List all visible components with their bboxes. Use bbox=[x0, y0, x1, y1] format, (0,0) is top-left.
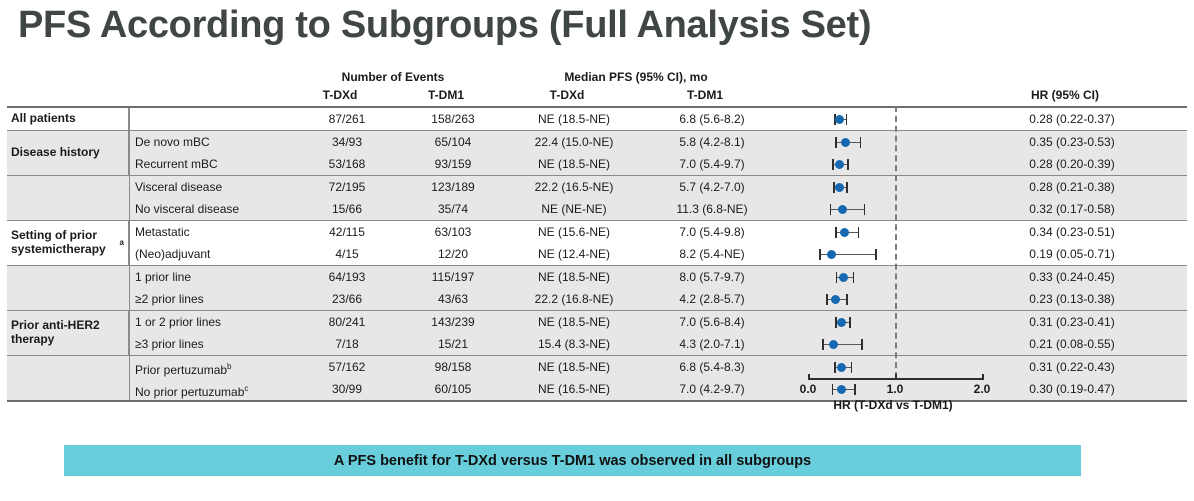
table-band: All patients87/261158/263NE (18.5-NE)6.8… bbox=[7, 108, 1187, 131]
axis-tick-label: 2.0 bbox=[962, 382, 1002, 396]
confidence-interval-line bbox=[830, 209, 866, 210]
cell-events-tdxd: 57/162 bbox=[297, 356, 397, 378]
table-row: 1 or 2 prior lines80/241143/239NE (18.5-… bbox=[7, 311, 1187, 333]
hazard-ratio-point bbox=[835, 115, 844, 124]
forest-marker bbox=[785, 311, 955, 333]
row-label-text: No visceral disease bbox=[135, 202, 239, 216]
row-label-text: Visceral disease bbox=[135, 180, 222, 194]
cell-events-tdxd: 34/93 bbox=[297, 131, 397, 153]
table-row: 1 prior line64/193115/197NE (18.5-NE)8.0… bbox=[7, 266, 1187, 288]
cell-hr: 0.28 (0.20-0.39) bbox=[957, 153, 1187, 175]
ci-cap-upper bbox=[849, 317, 851, 328]
table-row: Prior pertuzumabb57/16298/158NE (18.5-NE… bbox=[7, 356, 1187, 378]
table-row: Recurrent mBC53/16893/159NE (18.5-NE)7.0… bbox=[7, 153, 1187, 175]
cell-median-tdm1: 6.8 (5.4-8.3) bbox=[647, 356, 777, 378]
row-label: No visceral disease bbox=[135, 198, 239, 220]
cell-hr: 0.28 (0.21-0.38) bbox=[957, 176, 1187, 198]
page-title: PFS According to Subgroups (Full Analysi… bbox=[18, 0, 1118, 52]
cell-median-tdxd: 22.4 (15.0-NE) bbox=[509, 131, 639, 153]
row-label: 1 prior line bbox=[135, 266, 191, 288]
ci-cap-upper bbox=[853, 272, 855, 283]
row-label: 1 or 2 prior lines bbox=[135, 311, 221, 333]
header-events-tdm1: T-DM1 bbox=[396, 88, 496, 102]
table-row: All patients87/261158/263NE (18.5-NE)6.8… bbox=[7, 108, 1187, 130]
cell-median-tdm1: 7.0 (5.4-9.8) bbox=[647, 221, 777, 243]
cell-events-tdm1: 115/197 bbox=[403, 266, 503, 288]
row-label: No prior pertuzumabc bbox=[135, 378, 248, 400]
axis-tick bbox=[982, 374, 984, 380]
cell-events-tdm1: 98/158 bbox=[403, 356, 503, 378]
ci-cap-lower bbox=[836, 272, 838, 283]
forest-marker bbox=[785, 153, 955, 175]
cell-median-tdxd: NE (18.5-NE) bbox=[509, 356, 639, 378]
header-events-tdxd: T-DXd bbox=[290, 88, 390, 102]
cell-median-tdxd: 15.4 (8.3-NE) bbox=[509, 333, 639, 355]
table-band: Disease historyDe novo mBC34/9365/10422.… bbox=[7, 131, 1187, 176]
row-label: De novo mBC bbox=[135, 131, 210, 153]
cell-hr: 0.21 (0.08-0.55) bbox=[957, 333, 1187, 355]
footnote-marker: c bbox=[244, 384, 248, 393]
cell-median-tdxd: 22.2 (16.8-NE) bbox=[509, 288, 639, 310]
forest-marker bbox=[785, 131, 955, 153]
ci-cap-lower bbox=[830, 204, 832, 215]
cell-hr: 0.34 (0.23-0.51) bbox=[957, 221, 1187, 243]
cell-events-tdxd: 4/15 bbox=[297, 243, 397, 265]
ci-cap-upper bbox=[864, 204, 866, 215]
cell-median-tdm1: 11.3 (6.8-NE) bbox=[647, 198, 777, 220]
cell-events-tdxd: 53/168 bbox=[297, 153, 397, 175]
forest-marker bbox=[785, 243, 955, 265]
cell-median-tdxd: NE (15.6-NE) bbox=[509, 221, 639, 243]
cell-median-tdxd: NE (18.5-NE) bbox=[509, 311, 639, 333]
ci-cap-lower bbox=[822, 339, 824, 350]
table-band: 1 prior line64/193115/197NE (18.5-NE)8.0… bbox=[7, 266, 1187, 311]
cell-events-tdxd: 80/241 bbox=[297, 311, 397, 333]
axis-title: HR (T-DXd vs T-DM1) bbox=[778, 398, 1008, 412]
table-row: Metastatic42/11563/103NE (15.6-NE)7.0 (5… bbox=[7, 221, 1187, 243]
row-label: Recurrent mBC bbox=[135, 153, 218, 175]
cell-hr: 0.31 (0.23-0.41) bbox=[957, 311, 1187, 333]
footnote-marker: b bbox=[227, 362, 231, 371]
ci-cap-lower bbox=[832, 159, 834, 170]
cell-median-tdm1: 8.2 (5.4-NE) bbox=[647, 243, 777, 265]
cell-events-tdm1: 60/105 bbox=[403, 378, 503, 400]
forest-marker bbox=[785, 108, 955, 130]
cell-median-tdxd: NE (16.5-NE) bbox=[509, 378, 639, 400]
row-label-text: Prior pertuzumab bbox=[135, 363, 227, 377]
ci-cap-upper bbox=[846, 294, 848, 305]
axis-tick bbox=[808, 374, 810, 380]
row-label-text: All patients bbox=[11, 112, 76, 126]
header-median-tdxd: T-DXd bbox=[502, 88, 632, 102]
row-label: ≥2 prior lines bbox=[135, 288, 204, 310]
cell-median-tdm1: 8.0 (5.7-9.7) bbox=[647, 266, 777, 288]
row-label-all-patients: All patients bbox=[11, 108, 129, 130]
x-axis: 0.01.02.0 HR (T-DXd vs T-DM1) bbox=[778, 378, 1008, 418]
row-label: Prior pertuzumabb bbox=[135, 356, 232, 378]
cell-events-tdxd: 23/66 bbox=[297, 288, 397, 310]
ci-cap-lower bbox=[835, 227, 837, 238]
ci-cap-upper bbox=[851, 362, 853, 373]
ci-cap-lower bbox=[835, 317, 837, 328]
hazard-ratio-point bbox=[837, 318, 846, 327]
hazard-ratio-point bbox=[835, 160, 844, 169]
ci-cap-upper bbox=[846, 182, 848, 193]
ci-cap-lower bbox=[835, 137, 837, 148]
table-band: Setting of prior systemictherapyaMetasta… bbox=[7, 221, 1187, 266]
hazard-ratio-point bbox=[838, 205, 847, 214]
row-label-text: ≥3 prior lines bbox=[135, 337, 204, 351]
hazard-ratio-point bbox=[841, 138, 850, 147]
cell-median-tdxd: NE (18.5-NE) bbox=[509, 266, 639, 288]
table-band: Prior pertuzumabb57/16298/158NE (18.5-NE… bbox=[7, 356, 1187, 400]
hazard-ratio-point bbox=[835, 183, 844, 192]
forest-marker bbox=[785, 288, 955, 310]
forest-marker bbox=[785, 266, 955, 288]
row-label: (Neo)adjuvant bbox=[135, 243, 210, 265]
row-label: ≥3 prior lines bbox=[135, 333, 204, 355]
row-label-text: 1 or 2 prior lines bbox=[135, 315, 221, 329]
cell-median-tdxd: NE (18.5-NE) bbox=[509, 153, 639, 175]
cell-events-tdxd: 87/261 bbox=[297, 108, 397, 130]
cell-hr: 0.35 (0.23-0.53) bbox=[957, 131, 1187, 153]
cell-events-tdxd: 64/193 bbox=[297, 266, 397, 288]
hazard-ratio-point bbox=[827, 250, 836, 259]
hazard-ratio-point bbox=[829, 340, 838, 349]
cell-hr: 0.28 (0.22-0.37) bbox=[957, 108, 1187, 130]
ci-cap-upper bbox=[847, 159, 849, 170]
cell-median-tdm1: 6.8 (5.6-8.2) bbox=[647, 108, 777, 130]
cell-events-tdxd: 30/99 bbox=[297, 378, 397, 400]
forest-marker bbox=[785, 356, 955, 378]
forest-plot-table: All patients87/261158/263NE (18.5-NE)6.8… bbox=[7, 106, 1187, 402]
table-row: ≥3 prior lines7/1815/2115.4 (8.3-NE)4.3 … bbox=[7, 333, 1187, 355]
ci-cap-upper bbox=[875, 249, 877, 260]
conclusion-banner: A PFS benefit for T-DXd versus T-DM1 was… bbox=[64, 445, 1081, 476]
cell-events-tdm1: 143/239 bbox=[403, 311, 503, 333]
cell-median-tdm1: 5.7 (4.2-7.0) bbox=[647, 176, 777, 198]
cell-hr: 0.19 (0.05-0.71) bbox=[957, 243, 1187, 265]
cell-median-tdm1: 7.0 (5.6-8.4) bbox=[647, 311, 777, 333]
cell-events-tdm1: 65/104 bbox=[403, 131, 503, 153]
table-row: ≥2 prior lines23/6643/6322.2 (16.8-NE)4.… bbox=[7, 288, 1187, 310]
hazard-ratio-point bbox=[837, 363, 846, 372]
cell-events-tdxd: 7/18 bbox=[297, 333, 397, 355]
cell-median-tdm1: 4.2 (2.8-5.7) bbox=[647, 288, 777, 310]
axis-tick bbox=[895, 374, 897, 380]
cell-events-tdm1: 35/74 bbox=[403, 198, 503, 220]
cell-events-tdm1: 123/189 bbox=[403, 176, 503, 198]
cell-median-tdxd: NE (NE-NE) bbox=[509, 198, 639, 220]
cell-events-tdm1: 93/159 bbox=[403, 153, 503, 175]
cell-events-tdxd: 72/195 bbox=[297, 176, 397, 198]
forest-marker bbox=[785, 176, 955, 198]
ci-cap-lower bbox=[834, 362, 836, 373]
row-label-text: 1 prior line bbox=[135, 270, 191, 284]
table-row: No prior pertuzumabc30/9960/105NE (16.5-… bbox=[7, 378, 1187, 400]
header-hr: HR (95% CI) bbox=[950, 88, 1180, 102]
cell-events-tdm1: 43/63 bbox=[403, 288, 503, 310]
column-headers: Number of Events Median PFS (95% CI), mo… bbox=[0, 70, 1194, 108]
table-row: Visceral disease72/195123/18922.2 (16.5-… bbox=[7, 176, 1187, 198]
row-label-text: Recurrent mBC bbox=[135, 157, 218, 171]
cell-median-tdxd: NE (12.4-NE) bbox=[509, 243, 639, 265]
cell-hr: 0.33 (0.24-0.45) bbox=[957, 266, 1187, 288]
hazard-ratio-point bbox=[839, 273, 848, 282]
row-label: Visceral disease bbox=[135, 176, 222, 198]
table-row: De novo mBC34/9365/10422.4 (15.0-NE)5.8 … bbox=[7, 131, 1187, 153]
ci-cap-upper bbox=[861, 339, 863, 350]
row-label-text: Metastatic bbox=[135, 225, 190, 239]
header-median-pfs: Median PFS (95% CI), mo bbox=[502, 70, 770, 84]
row-label: Metastatic bbox=[135, 221, 190, 243]
cell-events-tdxd: 15/66 bbox=[297, 198, 397, 220]
conclusion-banner-text: A PFS benefit for T-DXd versus T-DM1 was… bbox=[334, 453, 811, 469]
reference-line-hr-1 bbox=[895, 106, 897, 378]
row-label-text: ≥2 prior lines bbox=[135, 292, 204, 306]
hazard-ratio-point bbox=[840, 228, 849, 237]
hazard-ratio-point bbox=[831, 295, 840, 304]
cell-median-tdm1: 7.0 (4.2-9.7) bbox=[647, 378, 777, 400]
cell-events-tdm1: 63/103 bbox=[403, 221, 503, 243]
ci-cap-lower bbox=[819, 249, 821, 260]
ci-cap-upper bbox=[846, 114, 848, 125]
cell-median-tdm1: 7.0 (5.4-9.7) bbox=[647, 153, 777, 175]
table-band: Prior anti-HER2 therapy1 or 2 prior line… bbox=[7, 311, 1187, 356]
table-band: Visceral disease72/195123/18922.2 (16.5-… bbox=[7, 176, 1187, 221]
cell-hr: 0.32 (0.17-0.58) bbox=[957, 198, 1187, 220]
forest-marker bbox=[785, 333, 955, 355]
cell-median-tdm1: 5.8 (4.2-8.1) bbox=[647, 131, 777, 153]
header-number-of-events: Number of Events bbox=[290, 70, 496, 84]
cell-events-tdxd: 42/115 bbox=[297, 221, 397, 243]
cell-events-tdm1: 15/21 bbox=[403, 333, 503, 355]
ci-cap-upper bbox=[860, 137, 862, 148]
forest-marker bbox=[785, 198, 955, 220]
row-label-text: (Neo)adjuvant bbox=[135, 247, 210, 261]
axis-tick-label: 1.0 bbox=[875, 382, 915, 396]
cell-hr: 0.31 (0.22-0.43) bbox=[957, 356, 1187, 378]
ci-cap-upper bbox=[858, 227, 860, 238]
ci-cap-lower bbox=[826, 294, 828, 305]
axis-tick-label: 0.0 bbox=[788, 382, 828, 396]
header-median-tdm1: T-DM1 bbox=[640, 88, 770, 102]
table-row: No visceral disease15/6635/74NE (NE-NE)1… bbox=[7, 198, 1187, 220]
cell-median-tdxd: 22.2 (16.5-NE) bbox=[509, 176, 639, 198]
cell-events-tdm1: 158/263 bbox=[403, 108, 503, 130]
row-label-text: No prior pertuzumab bbox=[135, 385, 244, 399]
cell-events-tdm1: 12/20 bbox=[403, 243, 503, 265]
cell-median-tdm1: 4.3 (2.0-7.1) bbox=[647, 333, 777, 355]
table-row: (Neo)adjuvant4/1512/20NE (12.4-NE)8.2 (5… bbox=[7, 243, 1187, 265]
forest-marker bbox=[785, 221, 955, 243]
cell-hr: 0.23 (0.13-0.38) bbox=[957, 288, 1187, 310]
cell-median-tdxd: NE (18.5-NE) bbox=[509, 108, 639, 130]
row-label-text: De novo mBC bbox=[135, 135, 210, 149]
